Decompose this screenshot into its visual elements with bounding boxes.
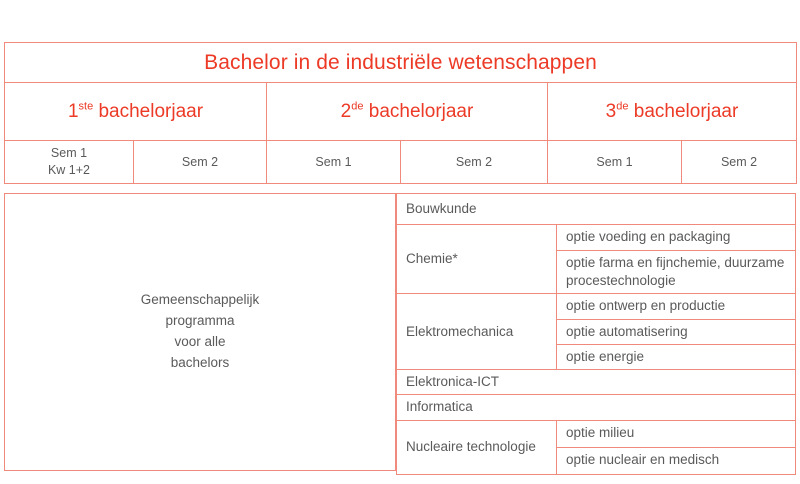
common-line-4: bachelors (141, 353, 260, 374)
program-option-chemie-1: optie voeding en packaging (557, 225, 796, 251)
program-option-elektromechanica-3: optie energie (557, 344, 796, 369)
year-cell-2: 2de bachelorjaar (267, 83, 548, 141)
semester-line1-6: Sem 2 (682, 154, 796, 171)
year-label-3: bachelorjaar (634, 101, 739, 122)
semester-cell-5: Sem 1 (548, 141, 682, 184)
table-row: Nucleaire technologie optie milieu (397, 420, 796, 447)
semester-cell-2: Sem 2 (134, 141, 267, 184)
year-suffix-1: ste (79, 100, 94, 112)
program-option-nucleaire-1: optie milieu (557, 420, 796, 447)
semester-line2-1: Kw 1+2 (5, 162, 133, 179)
semester-line1-5: Sem 1 (548, 154, 681, 171)
program-option-chemie-2: optie farma en fijnchemie, duurzame proc… (557, 251, 796, 294)
year-number-1: 1 (68, 101, 79, 122)
year-label-2: bachelorjaar (369, 101, 474, 122)
program-overview-diagram: Bachelor in de industriële wetenschappen… (0, 0, 800, 484)
program-name-chemie: Chemie* (397, 225, 557, 294)
common-line-3: voor alle (141, 332, 260, 353)
semester-cell-1: Sem 1Kw 1+2 (5, 141, 134, 184)
header-table: Bachelor in de industriële wetenschappen… (4, 42, 797, 184)
table-row: Elektronica-ICT (397, 370, 796, 395)
program-option-nucleaire-2: optie nucleair en medisch (557, 447, 796, 474)
table-row: Informatica (397, 395, 796, 420)
program-option-elektromechanica-1: optie ontwerp en productie (557, 294, 796, 319)
program-name-elektromechanica: Elektromechanica (397, 294, 557, 370)
year-cell-3: 3de bachelorjaar (548, 83, 797, 141)
year-label-1: bachelorjaar (98, 101, 203, 122)
program-option-elektromechanica-2: optie automatisering (557, 319, 796, 344)
year-suffix-2: de (351, 100, 363, 112)
table-row: Chemie* optie voeding en packaging (397, 225, 796, 251)
table-row: Bouwkunde (397, 194, 796, 225)
program-name-bouwkunde: Bouwkunde (397, 194, 796, 225)
program-name-nucleaire-technologie: Nucleaire technologie (397, 420, 557, 474)
table-row: Elektromechanica optie ontwerp en produc… (397, 294, 796, 319)
year-suffix-3: de (616, 100, 628, 112)
body-zone: Gemeenschappelijk programma voor alle ba… (4, 193, 796, 471)
year-row: 1ste bachelorjaar 2de bachelorjaar 3de b… (5, 83, 797, 141)
semester-row: Sem 1Kw 1+2 Sem 2 Sem 1 Sem 2 Sem 1 Sem … (5, 141, 797, 184)
year-number-2: 2 (341, 101, 352, 122)
semester-cell-6: Sem 2 (682, 141, 797, 184)
common-programme-text: Gemeenschappelijk programma voor alle ba… (141, 290, 260, 374)
semester-line1-3: Sem 1 (267, 154, 400, 171)
title-row: Bachelor in de industriële wetenschappen (5, 43, 797, 83)
common-programme-block: Gemeenschappelijk programma voor alle ba… (4, 193, 396, 471)
program-name-informatica: Informatica (397, 395, 796, 420)
year-cell-1: 1ste bachelorjaar (5, 83, 267, 141)
common-line-2: programma (141, 311, 260, 332)
programs-table: Bouwkunde Chemie* optie voeding en packa… (396, 193, 796, 475)
semester-cell-4: Sem 2 (401, 141, 548, 184)
program-name-elektronica-ict: Elektronica-ICT (397, 370, 796, 395)
semester-line1-2: Sem 2 (134, 154, 266, 171)
year-number-3: 3 (606, 101, 617, 122)
semester-line1-4: Sem 2 (401, 154, 547, 171)
semester-cell-3: Sem 1 (267, 141, 401, 184)
page-title: Bachelor in de industriële wetenschappen (5, 43, 797, 83)
common-line-1: Gemeenschappelijk (141, 290, 260, 311)
semester-line1-1: Sem 1 (5, 145, 133, 162)
